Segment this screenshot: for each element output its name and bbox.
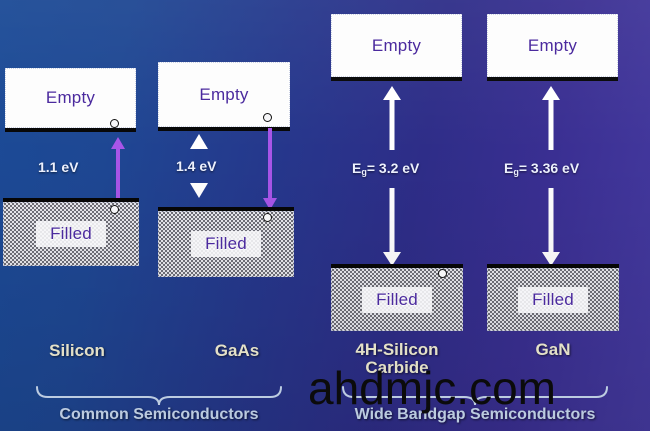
gaas-empty-label: Empty	[199, 85, 248, 105]
brace-common-semiconductors	[34, 385, 284, 407]
gaas-recombination-arrow	[263, 128, 277, 210]
gaas-valence-hole	[263, 213, 272, 222]
material-name-silicon: Silicon	[32, 342, 122, 360]
gaas-gap-arrowhead-up-icon	[190, 134, 208, 149]
silicon-empty-label: Empty	[46, 88, 95, 108]
material-name-gaas-line1: GaAs	[215, 341, 259, 360]
gan-bandgap-arrow-up	[542, 86, 560, 150]
gan-bandgap-arrow-down	[542, 188, 560, 266]
gan-filled-label: Filled	[518, 287, 588, 313]
arrow-head-icon	[542, 252, 560, 266]
sic-bandgap-arrow-down	[383, 188, 401, 266]
silicon-valence-hole	[110, 205, 119, 214]
group-label-common: Common Semiconductors	[24, 406, 294, 424]
material-name-sic-line1: 4H-Silicon	[355, 340, 438, 359]
sic-gap-label-symbol: E	[352, 160, 361, 176]
material-name-gaas: GaAs	[192, 342, 282, 360]
gaas-filled-band: Filled	[158, 211, 294, 277]
gan-gap-label-value: = 3.36 eV	[519, 160, 579, 176]
gan-gap-label-symbol: E	[504, 160, 513, 176]
gan-gap-label: Eg= 3.36 eV	[504, 160, 579, 177]
sic-bandgap-arrow-up	[383, 86, 401, 150]
gaas-gap-arrowhead-down-icon	[190, 183, 208, 198]
arrow-shaft	[390, 97, 395, 150]
silicon-bandgap-arrow	[111, 137, 125, 202]
arrow-head-icon	[383, 252, 401, 266]
gaas-filled-label: Filled	[191, 231, 261, 257]
material-name-silicon-line1: Silicon	[49, 341, 105, 360]
sic-filled-label: Filled	[362, 287, 432, 313]
silicon-conduction-electron	[110, 119, 119, 128]
silicon-filled-label: Filled	[36, 221, 106, 247]
material-name-gan: GaN	[498, 341, 608, 359]
sic-gap-label-value: = 3.2 eV	[367, 160, 420, 176]
gan-empty-band: Empty	[487, 14, 618, 77]
site-watermark: ahdmjc.com	[308, 361, 556, 415]
gan-filled-band: Filled	[487, 268, 619, 331]
sic-valence-hole	[438, 269, 447, 278]
gaas-conduction-electron	[263, 113, 272, 122]
gan-empty-label: Empty	[528, 36, 577, 56]
sic-empty-label: Empty	[372, 36, 421, 56]
arrow-shaft	[549, 97, 554, 150]
silicon-filled-band: Filled	[3, 202, 139, 266]
gaas-gap-label: 1.4 eV	[176, 158, 216, 174]
sic-gap-label: Eg= 3.2 eV	[352, 160, 419, 177]
arrow-shaft	[549, 188, 554, 255]
arrow-head-icon	[263, 198, 277, 210]
band-gap-diagram: Empty 1.1 eV Filled Silicon Empty 1.4 eV…	[0, 0, 650, 431]
silicon-gap-label: 1.1 eV	[38, 159, 78, 175]
sic-empty-band: Empty	[331, 14, 462, 77]
material-name-gan-line1: GaN	[536, 340, 571, 359]
arrow-shaft	[390, 188, 395, 255]
arrow-shaft	[116, 146, 120, 202]
arrow-shaft	[268, 128, 272, 201]
